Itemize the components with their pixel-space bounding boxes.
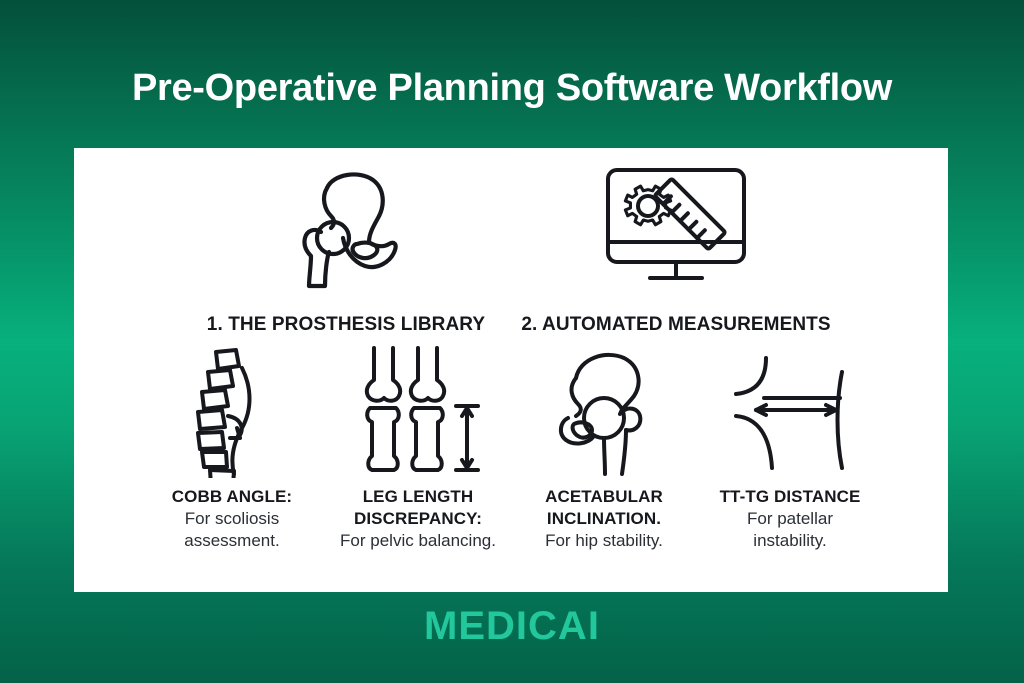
measurement-desc-1: For patellar — [720, 508, 861, 530]
step-label: 1. THE PROSTHESIS LIBRARY — [207, 314, 485, 336]
spine-curvature-icon — [176, 346, 288, 478]
measurement-cobb-angle[interactable]: COBB ANGLE: For scoliosis assessment. — [139, 346, 325, 551]
measurement-desc-1: For scoliosis — [172, 508, 292, 530]
measurement-heading: LEG LENGTH — [340, 486, 496, 508]
primary-steps-row: 1. THE PROSTHESIS LIBRARY — [74, 162, 948, 336]
measurement-heading: TT-TG DISTANCE — [720, 486, 861, 508]
measurement-acetabular-inclination[interactable]: ACETABULAR INCLINATION. For hip stabilit… — [511, 346, 697, 551]
measurement-caption: LEG LENGTH DISCREPANCY: For pelvic balan… — [340, 486, 496, 551]
knee-tttg-arrow-icon — [726, 346, 854, 478]
measurement-caption: TT-TG DISTANCE For patellar instability. — [720, 486, 861, 551]
measurement-heading: COBB ANGLE: — [172, 486, 292, 508]
measurement-desc-1: For pelvic balancing. — [340, 530, 496, 552]
measurement-caption: COBB ANGLE: For scoliosis assessment. — [172, 486, 292, 551]
content-card: 1. THE PROSTHESIS LIBRARY — [74, 148, 948, 592]
measurement-caption: ACETABULAR INCLINATION. For hip stabilit… — [545, 486, 663, 551]
hip-prosthesis-icon — [281, 162, 411, 292]
step-prosthesis-library[interactable]: 1. THE PROSTHESIS LIBRARY — [181, 162, 511, 336]
medicai-logo: MEDICAI — [0, 604, 1024, 649]
measurement-tt-tg-distance[interactable]: TT-TG DISTANCE For patellar instability. — [697, 346, 883, 551]
pelvis-acetabulum-icon — [542, 346, 666, 478]
measurement-heading-2: INCLINATION. — [545, 508, 663, 530]
measurement-leg-length-discrepancy[interactable]: LEG LENGTH DISCREPANCY: For pelvic balan… — [325, 346, 511, 551]
measurement-heading-2: DISCREPANCY: — [340, 508, 496, 530]
measurement-desc-2: instability. — [720, 530, 861, 552]
measurement-desc-2: assessment. — [172, 530, 292, 552]
leg-bones-measure-icon — [352, 346, 484, 478]
measurement-heading: ACETABULAR — [545, 486, 663, 508]
measurement-desc-1: For hip stability. — [545, 530, 663, 552]
step-label: 2. AUTOMATED MEASUREMENTS — [521, 314, 830, 336]
monitor-gear-ruler-icon — [592, 162, 760, 292]
step-automated-measurements[interactable]: 2. AUTOMATED MEASUREMENTS — [511, 162, 841, 336]
measurements-row: COBB ANGLE: For scoliosis assessment. — [74, 346, 948, 551]
slide-canvas: Pre-Operative Planning Software Workflow — [0, 0, 1024, 683]
page-title: Pre-Operative Planning Software Workflow — [0, 68, 1024, 110]
